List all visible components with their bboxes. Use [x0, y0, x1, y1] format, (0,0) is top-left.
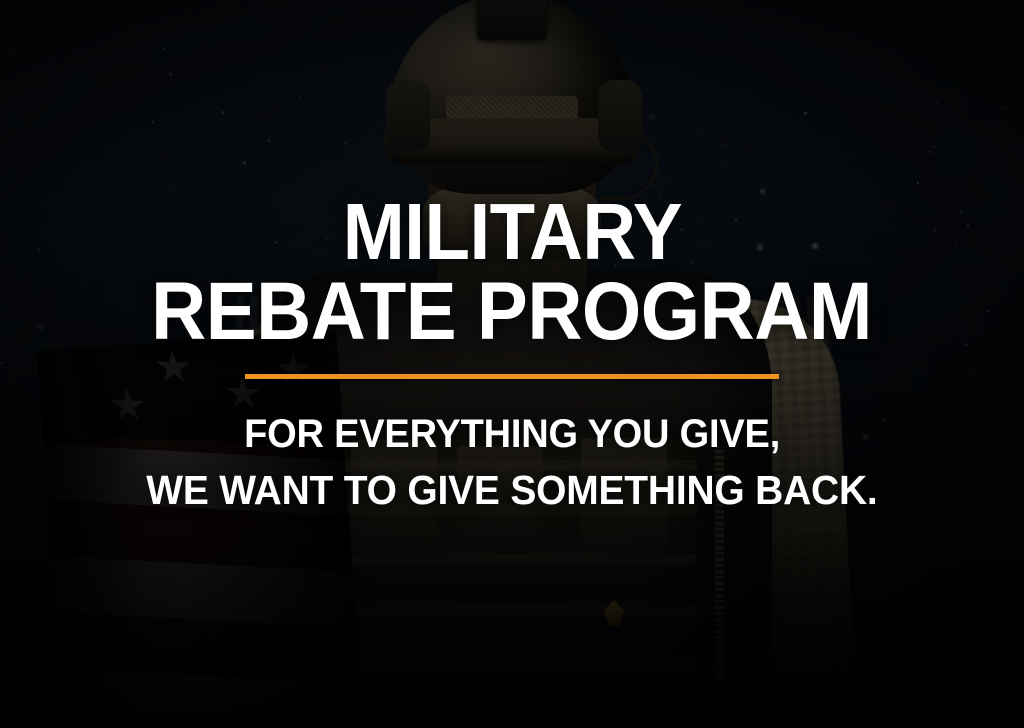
banner-content: MILITARY REBATE PROGRAM FOR EVERYTHING Y…: [0, 0, 1024, 728]
orange-divider: [245, 374, 779, 379]
headline-line-1: MILITARY: [342, 192, 681, 272]
headline-line-2: REBATE PROGRAM: [152, 272, 873, 352]
military-rebate-banner: MILITARY REBATE PROGRAM FOR EVERYTHING Y…: [0, 0, 1024, 728]
subheadline-line-1: FOR EVERYTHING YOU GIVE,: [244, 409, 780, 459]
subheadline-line-2: WE WANT TO GIVE SOMETHING BACK.: [146, 465, 877, 515]
